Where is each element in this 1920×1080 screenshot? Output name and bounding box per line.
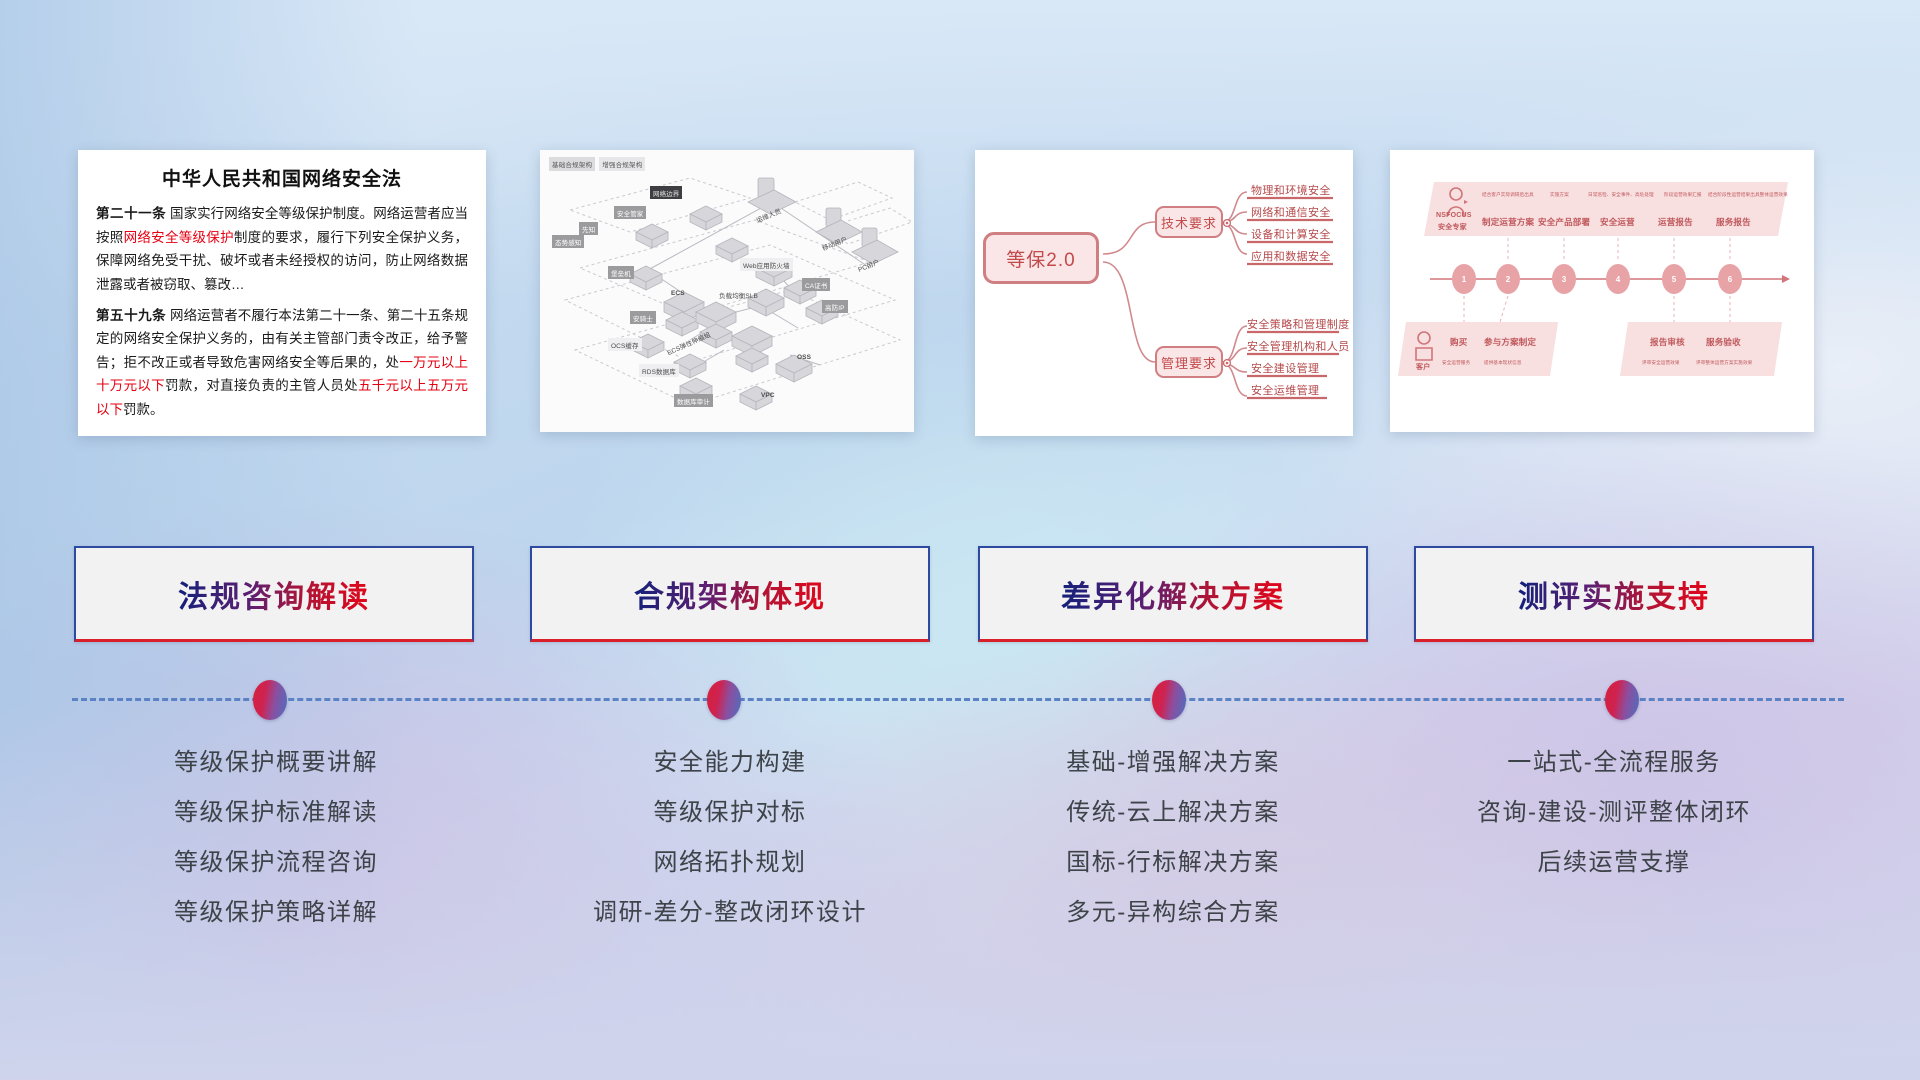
heading-label-4: 测评实施支持 — [1518, 572, 1710, 616]
mindmap-branch-technical: 技术要求 — [1155, 206, 1223, 238]
heading-box-compliance-architecture[interactable]: 合规架构体现 — [530, 546, 930, 642]
roadmap-cust2-title: 参与方案制定 — [1484, 336, 1536, 348]
law-article-21: 第二十一条 国家实行网络安全等级保护制度。网络运营者应当按照网络安全等级保护制度… — [96, 202, 468, 297]
roadmap-step4-title: 安全运营 — [1600, 216, 1635, 228]
heading-label-1: 法规咨询解读 — [178, 572, 370, 616]
list-item: 等级保护对标 — [530, 788, 930, 838]
roadmap-step-number-5: 5 — [1662, 264, 1686, 294]
roadmap-cust4-title: 服务验收 — [1706, 336, 1741, 348]
roadmap-customer-actor: 客户 — [1416, 362, 1430, 372]
arch-label-prophet: 先知 — [579, 222, 598, 235]
roadmap-cust3-title: 报告审核 — [1650, 336, 1685, 348]
list-item: 国标-行标解决方案 — [978, 838, 1368, 888]
list-item: 等级保护流程咨询 — [76, 838, 476, 888]
detail-column-row: 等级保护概要讲解 等级保护标准解读 等级保护流程咨询 等级保护策略详解 安全能力… — [0, 738, 1920, 968]
mindmap-leaf-physical-env: 物理和环境安全 — [1251, 182, 1331, 198]
slide-stage: 中华人民共和国网络安全法 第二十一条 国家实行网络安全等级保护制度。网络运营者应… — [0, 0, 1920, 1080]
list-item: 网络拓扑规划 — [530, 838, 930, 888]
arch-label-anti-ddos-ip: 高防IP — [822, 300, 848, 313]
arch-label-security-butler: 安全管家 — [614, 206, 646, 219]
arch-label-bastion-host: 堡垒机 — [608, 266, 634, 279]
list-item: 后续运营支撑 — [1414, 838, 1814, 888]
timeline-dot-3[interactable] — [1152, 680, 1186, 720]
arch-label-rds-database: RDS数据库 — [639, 364, 679, 377]
roadmap-step-number-1: 1 — [1452, 264, 1476, 294]
arch-label-ca-cert: CA证书 — [802, 278, 830, 291]
heading-box-row: 法规咨询解读 合规架构体现 差异化解决方案 测评实施支持 — [0, 546, 1920, 646]
law-excerpt-card: 中华人民共和国网络安全法 第二十一条 国家实行网络安全等级保护制度。网络运营者应… — [78, 150, 486, 436]
heading-box-assessment-support[interactable]: 测评实施支持 — [1414, 546, 1814, 642]
roadmap-cust4-sub: 评审整体运营方案实施效果 — [1696, 360, 1752, 366]
arch-label-vpc: VPC — [758, 390, 778, 400]
roadmap-step-number-2: 2 — [1496, 264, 1520, 294]
heading-label-2: 合规架构体现 — [634, 572, 826, 616]
roadmap-provider-actor-line2: 安全专家 — [1438, 222, 1467, 232]
roadmap-step5-title: 运营报告 — [1658, 216, 1693, 228]
architecture-diagram-card: 基础合规架构 增强合规架构 — [540, 150, 914, 432]
timeline-dashed-line — [72, 698, 1844, 701]
roadmap-step2-title: 制定运营方案 — [1482, 216, 1534, 228]
mindmap-leaf-policy-system: 安全策略和管理制度 — [1247, 316, 1350, 332]
arch-label-ecs: ECS — [668, 288, 688, 298]
timeline-dot-2[interactable] — [707, 680, 741, 720]
mindmap-card: 等保2.0 技术要求 物理和环境安全 网络和通信安全 设备和计算安全 应用和数据… — [975, 150, 1353, 436]
law-article-59-text-b: 罚款，对直接负责的主管人员处 — [165, 378, 358, 393]
law-article-21-highlight: 网络安全等级保护 — [124, 230, 234, 245]
roadmap-step4-sub: 日常巡检、安全事件、高危处理 — [1588, 192, 1654, 198]
mindmap-leaf-device-compute: 设备和计算安全 — [1251, 226, 1331, 242]
roadmap-step5-sub: 阶段运营效果汇报 — [1664, 192, 1702, 198]
detail-column-2: 安全能力构建 等级保护对标 网络拓扑规划 调研-差分-整改闭环设计 — [530, 738, 930, 938]
arch-label-oss: OSS — [794, 352, 814, 362]
list-item: 等级保护概要讲解 — [76, 738, 476, 788]
list-item: 一站式-全流程服务 — [1414, 738, 1814, 788]
law-article-59-text-c: 罚款。 — [123, 402, 164, 417]
law-article-59-label: 第五十九条 — [96, 308, 166, 323]
service-roadmap-card: NSFOCUS 安全专家 结合客户实际调研后出具 制定运营方案 实施方案 安全产… — [1390, 150, 1814, 432]
mindmap-leaf-org-personnel: 安全管理机构和人员 — [1247, 338, 1350, 354]
roadmap-step6-sub: 结合阶段性运营结果出具整体运营效果 — [1708, 192, 1788, 198]
roadmap-step-number-3: 3 — [1552, 264, 1576, 294]
roadmap-cust1-title: 购买 — [1450, 336, 1467, 348]
list-item: 传统-云上解决方案 — [978, 788, 1368, 838]
roadmap-cust2-sub: 提供基本现状信息 — [1484, 360, 1522, 366]
law-article-59: 第五十九条 网络运营者不履行本法第二十一条、第二十五条规定的网络安全保护义务的，… — [96, 304, 468, 422]
list-item: 等级保护策略详解 — [76, 888, 476, 938]
arch-label-situation-awareness: 态势感知 — [552, 235, 584, 248]
arch-label-ocs-cache: OCS缓存 — [608, 338, 642, 351]
list-item: 等级保护标准解读 — [76, 788, 476, 838]
mindmap-leaf-construction-mgmt: 安全建设管理 — [1251, 360, 1319, 376]
mindmap-leaf-app-data: 应用和数据安全 — [1251, 248, 1331, 264]
arch-label-waf: Web应用防火墙 — [740, 258, 793, 271]
list-item: 基础-增强解决方案 — [978, 738, 1368, 788]
list-item: 安全能力构建 — [530, 738, 930, 788]
arch-label-security-knight: 安骑士 — [630, 311, 656, 324]
detail-column-3: 基础-增强解决方案 传统-云上解决方案 国标-行标解决方案 多元-异构综合方案 — [978, 738, 1368, 938]
mindmap-branch-management: 管理要求 — [1155, 346, 1223, 378]
mindmap-root-node: 等保2.0 — [983, 232, 1099, 284]
mindmap-leaf-ops-mgmt: 安全运维管理 — [1251, 382, 1319, 398]
list-item: 咨询-建设-测评整体闭环 — [1414, 788, 1814, 838]
roadmap-step2-sub: 结合客户实际调研后出具 — [1482, 192, 1534, 198]
roadmap-cust3-sub: 评审安全运营效果 — [1642, 360, 1680, 366]
law-article-21-label: 第二十一条 — [96, 206, 166, 221]
timeline-dot-1[interactable] — [253, 680, 287, 720]
detail-column-4: 一站式-全流程服务 咨询-建设-测评整体闭环 后续运营支撑 — [1414, 738, 1814, 888]
architecture-canvas: 基础合规架构 增强合规架构 — [540, 150, 914, 432]
roadmap-step6-title: 服务报告 — [1716, 216, 1751, 228]
mindmap-leaf-network-comm: 网络和通信安全 — [1251, 204, 1331, 220]
roadmap-step3-title: 安全产品部署 — [1538, 216, 1590, 228]
law-text-block: 中华人民共和国网络安全法 第二十一条 国家实行网络安全等级保护制度。网络运营者应… — [78, 150, 486, 436]
arch-label-slb: 负载均衡SLB — [716, 288, 761, 301]
mindmap-canvas: 等保2.0 技术要求 物理和环境安全 网络和通信安全 设备和计算安全 应用和数据… — [975, 150, 1353, 436]
arch-label-network-border: 网络边界 — [650, 186, 682, 199]
timeline-dot-4[interactable] — [1605, 680, 1639, 720]
heading-box-differentiated-solution[interactable]: 差异化解决方案 — [978, 546, 1368, 642]
heading-label-3: 差异化解决方案 — [1061, 572, 1285, 616]
roadmap-canvas: NSFOCUS 安全专家 结合客户实际调研后出具 制定运营方案 实施方案 安全产… — [1390, 150, 1814, 432]
roadmap-step-number-6: 6 — [1718, 264, 1742, 294]
list-item: 调研-差分-整改闭环设计 — [530, 888, 930, 938]
list-item: 多元-异构综合方案 — [978, 888, 1368, 938]
roadmap-cust1-sub: 安全运营服务 — [1442, 360, 1470, 366]
law-title: 中华人民共和国网络安全法 — [96, 164, 468, 191]
illustration-card-row: 中华人民共和国网络安全法 第二十一条 国家实行网络安全等级保护制度。网络运营者应… — [0, 150, 1920, 440]
roadmap-step-number-4: 4 — [1606, 264, 1630, 294]
timeline — [0, 660, 1920, 740]
roadmap-step3-sub: 实施方案 — [1550, 192, 1569, 198]
arch-label-db-audit: 数据库审计 — [674, 394, 713, 407]
heading-box-regulation-consulting[interactable]: 法规咨询解读 — [74, 546, 474, 642]
detail-column-1: 等级保护概要讲解 等级保护标准解读 等级保护流程咨询 等级保护策略详解 — [76, 738, 476, 938]
roadmap-provider-actor-line1: NSFOCUS — [1436, 212, 1472, 219]
